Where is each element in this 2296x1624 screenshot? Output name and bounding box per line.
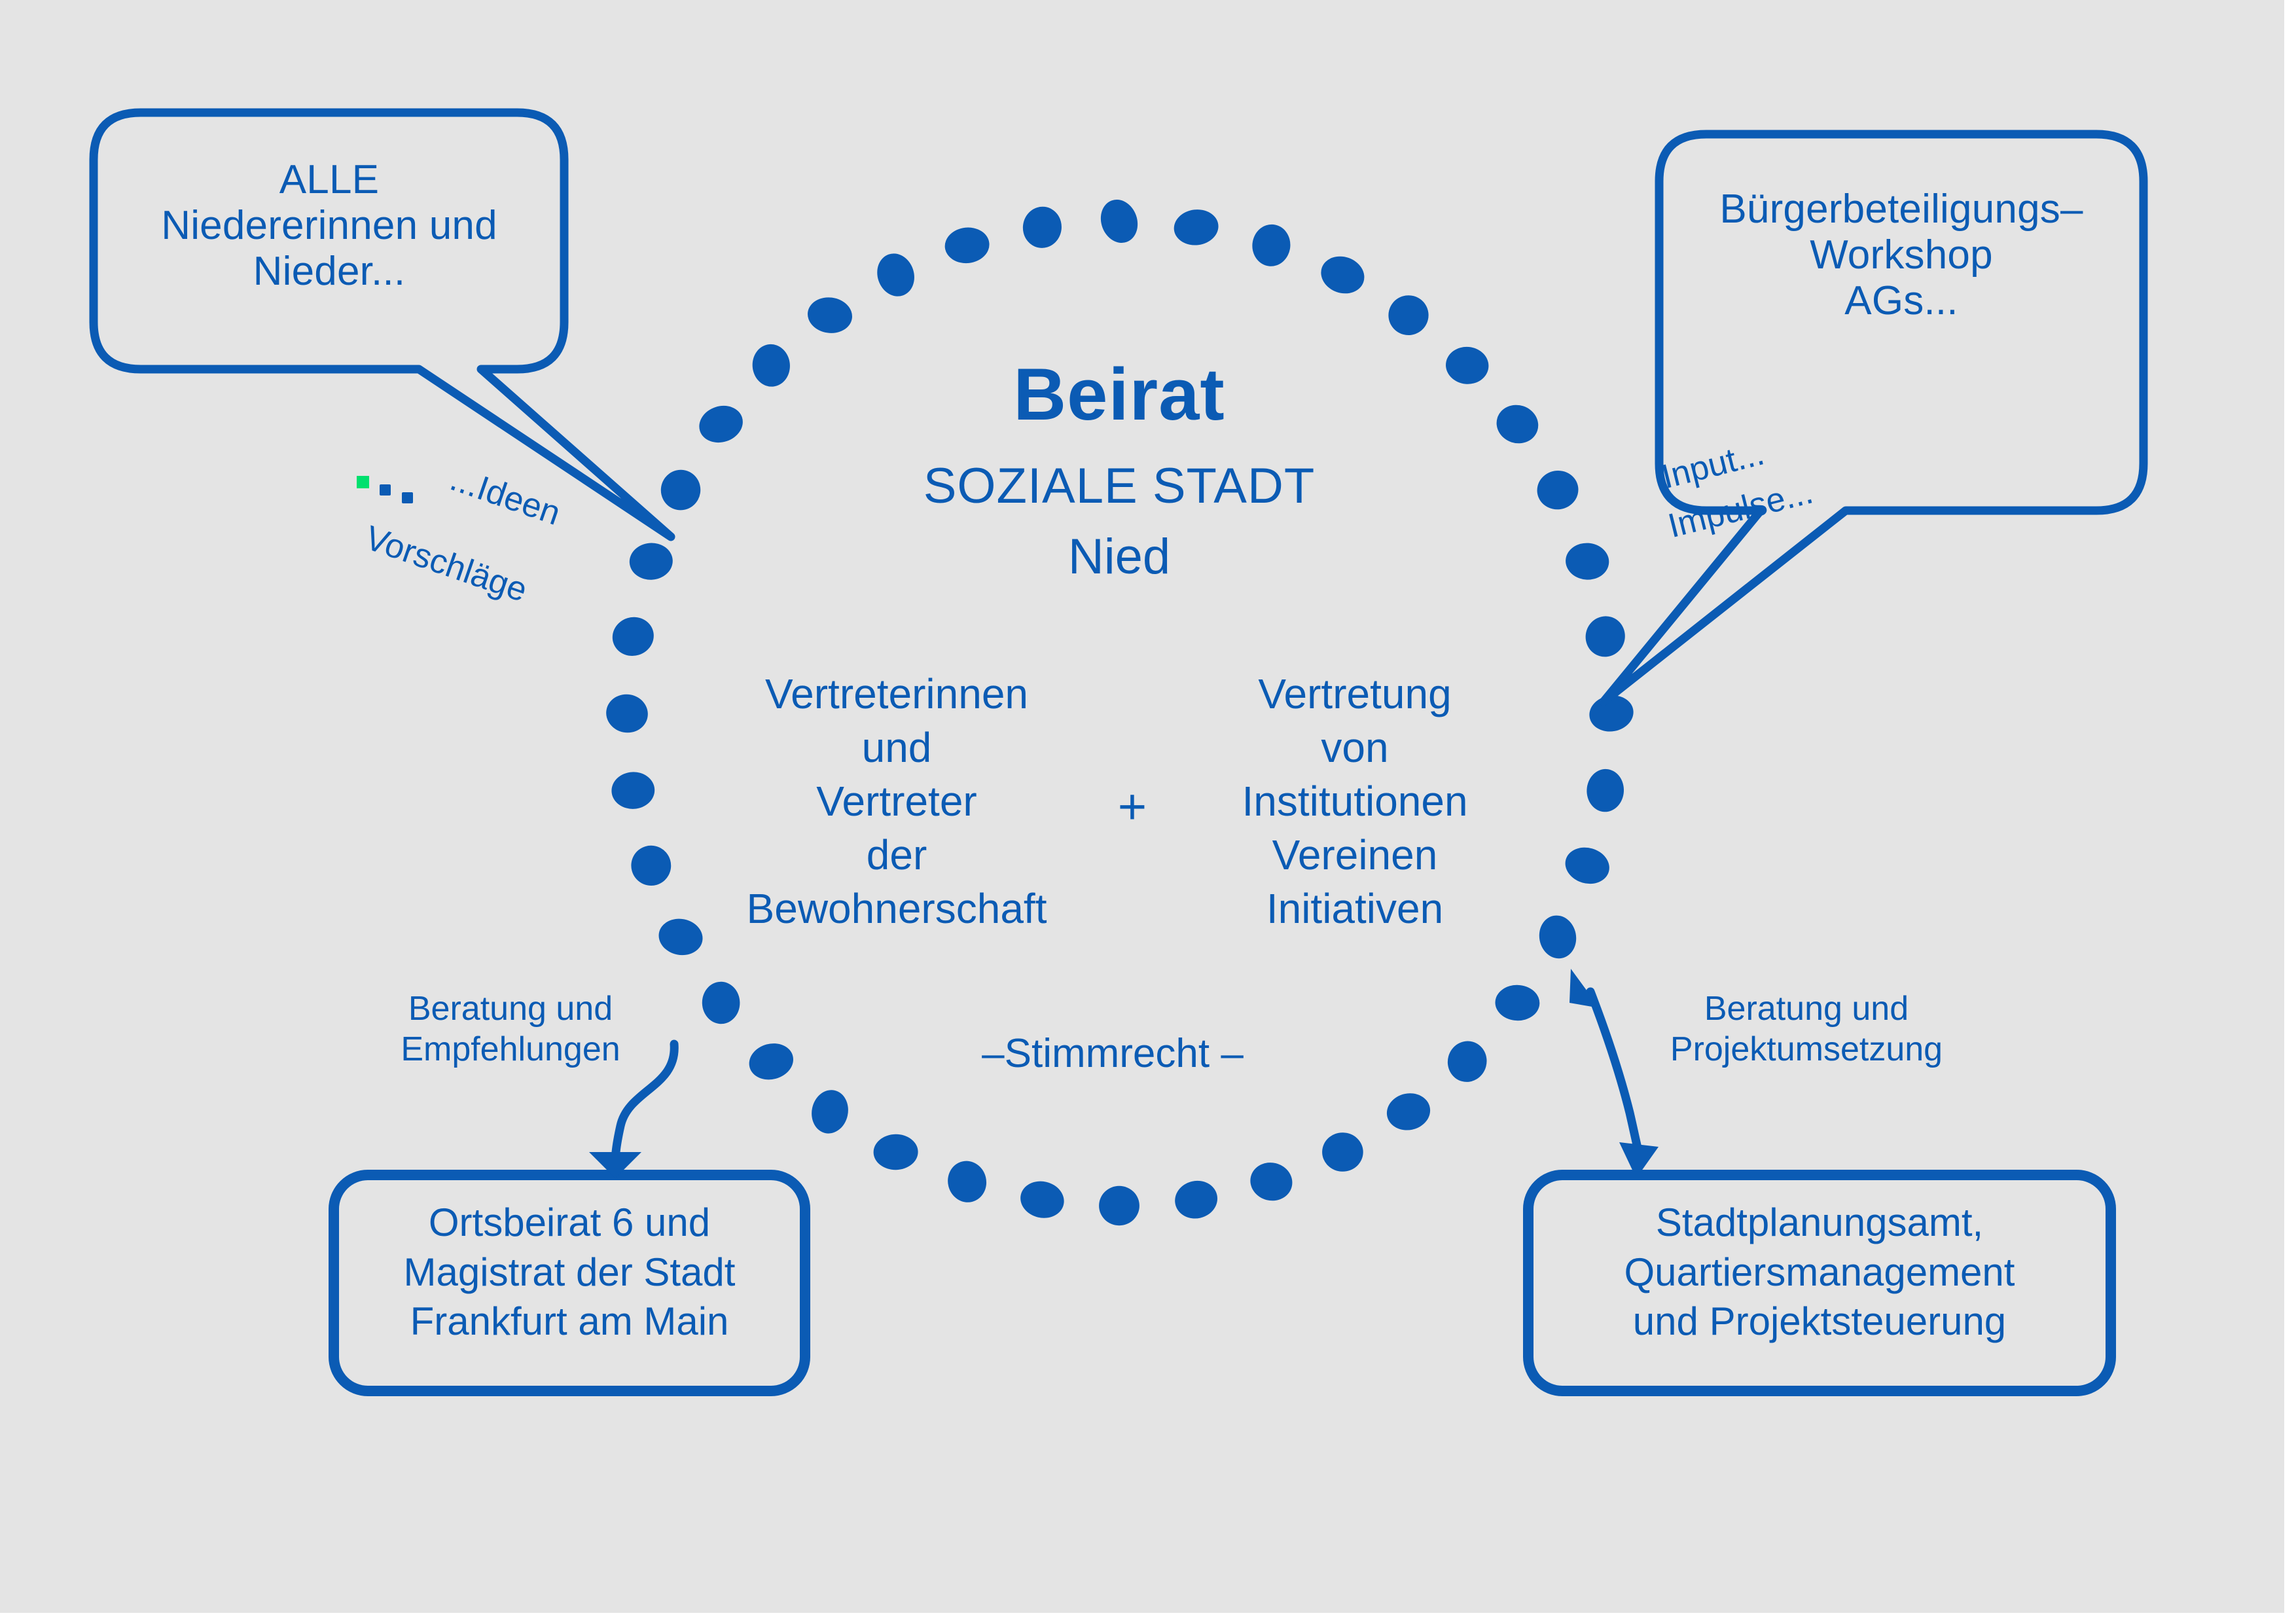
ring-dot (1535, 912, 1580, 962)
green-marker-dot (357, 476, 369, 488)
ring-dot (694, 400, 747, 448)
page-title: Beirat (772, 353, 1466, 437)
ring-dot (1246, 1158, 1296, 1205)
plus-sign: + (1086, 779, 1178, 835)
ring-dot (1250, 223, 1292, 268)
ellipsis-dot-icon (402, 492, 413, 503)
ring-dot (1581, 611, 1630, 662)
ring-dot (1020, 204, 1064, 250)
ring-dot (1171, 1176, 1221, 1222)
ring-dot (944, 1157, 991, 1206)
ring-dot (611, 771, 656, 810)
ring-dot (745, 1039, 797, 1085)
box-text-ortsbeirat: Ortsbeirat 6 und Magistrat der Stadt Fra… (327, 1198, 812, 1346)
ring-dot (1564, 541, 1610, 581)
ring-dot (1322, 1132, 1364, 1172)
ellipsis-dot-icon (380, 484, 391, 496)
ring-dot (628, 541, 674, 581)
ring-dot (943, 225, 991, 265)
ring-dot (1495, 984, 1541, 1022)
ring-dot (607, 612, 658, 661)
ring-dot (1172, 207, 1221, 247)
annotation-beratung-projektumsetzung: Beratung und Projektumsetzung (1623, 988, 1990, 1070)
ring-dot (1316, 251, 1370, 299)
diagram-page: ALLE Niedererinnen und Nieder... Bürgerb… (0, 0, 2296, 1624)
ring-dot (1386, 293, 1431, 338)
bubble-text-alle: ALLE Niedererinnen und Nieder... (94, 157, 565, 295)
ring-dot (805, 295, 854, 336)
box-text-stadtplanungsamt: Stadtplanungsamt, Quartiersmanagement un… (1525, 1198, 2114, 1346)
ring-dot (1384, 1089, 1434, 1134)
column-institutionen: Vertretung von Institutionen Vereinen In… (1172, 668, 1538, 936)
ring-dot (1095, 194, 1143, 248)
column-bewohnerschaft: Vertreterinnen und Vertreter der Bewohne… (694, 668, 1100, 936)
ring-dot (1443, 1037, 1492, 1087)
ring-dot (626, 841, 675, 891)
stimmrecht-note: –Stimmrecht – (903, 1031, 1322, 1077)
subtitle-nied: Nied (772, 529, 1466, 585)
ring-dot (1099, 1186, 1139, 1225)
subtitle-soziale-stadt: SOZIALE STADT (772, 458, 1466, 514)
ring-dot (1586, 768, 1625, 812)
bubble-text-buerger: Bürgerbeteiligungs– Workshop AGs... (1659, 187, 2144, 324)
ring-dot (1492, 399, 1543, 448)
ring-dot (808, 1087, 852, 1137)
ring-dot (1561, 842, 1613, 889)
ring-dot (1534, 467, 1581, 512)
ring-dot (603, 691, 651, 736)
annotation-beratung-empfehlungen: Beratung und Empfehlungen (340, 988, 681, 1070)
ring-dot (658, 467, 703, 513)
ring-dot (1017, 1177, 1068, 1222)
ring-dot (702, 981, 741, 1024)
ring-dot (873, 1134, 918, 1170)
ring-dot (872, 249, 920, 302)
